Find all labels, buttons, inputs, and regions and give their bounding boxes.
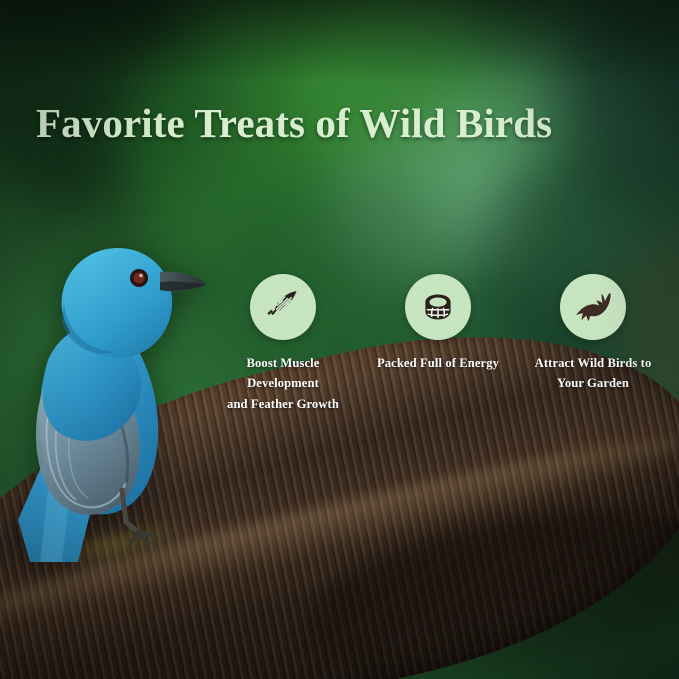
- suet-feeder-icon: [405, 274, 471, 340]
- feature-list: Boost Muscle Development and Feather Gro…: [208, 274, 668, 414]
- flying-bird-icon: [560, 274, 626, 340]
- feature-item-attract-birds: Attract Wild Birds to Your Garden: [518, 274, 668, 394]
- feature-label: Packed Full of Energy: [377, 353, 499, 373]
- feature-item-muscle-development: Boost Muscle Development and Feather Gro…: [208, 274, 358, 414]
- feature-label: Attract Wild Birds to Your Garden: [535, 353, 652, 394]
- feature-label: Boost Muscle Development and Feather Gro…: [227, 353, 339, 414]
- page-title: Favorite Treats of Wild Birds: [36, 99, 656, 147]
- blue-bird-photo: [0, 190, 230, 570]
- product-infographic-poster: Favorite Treats of Wild Birds: [0, 0, 679, 679]
- feather-icon: [250, 274, 316, 340]
- feature-item-energy: Packed Full of Energy: [363, 274, 513, 373]
